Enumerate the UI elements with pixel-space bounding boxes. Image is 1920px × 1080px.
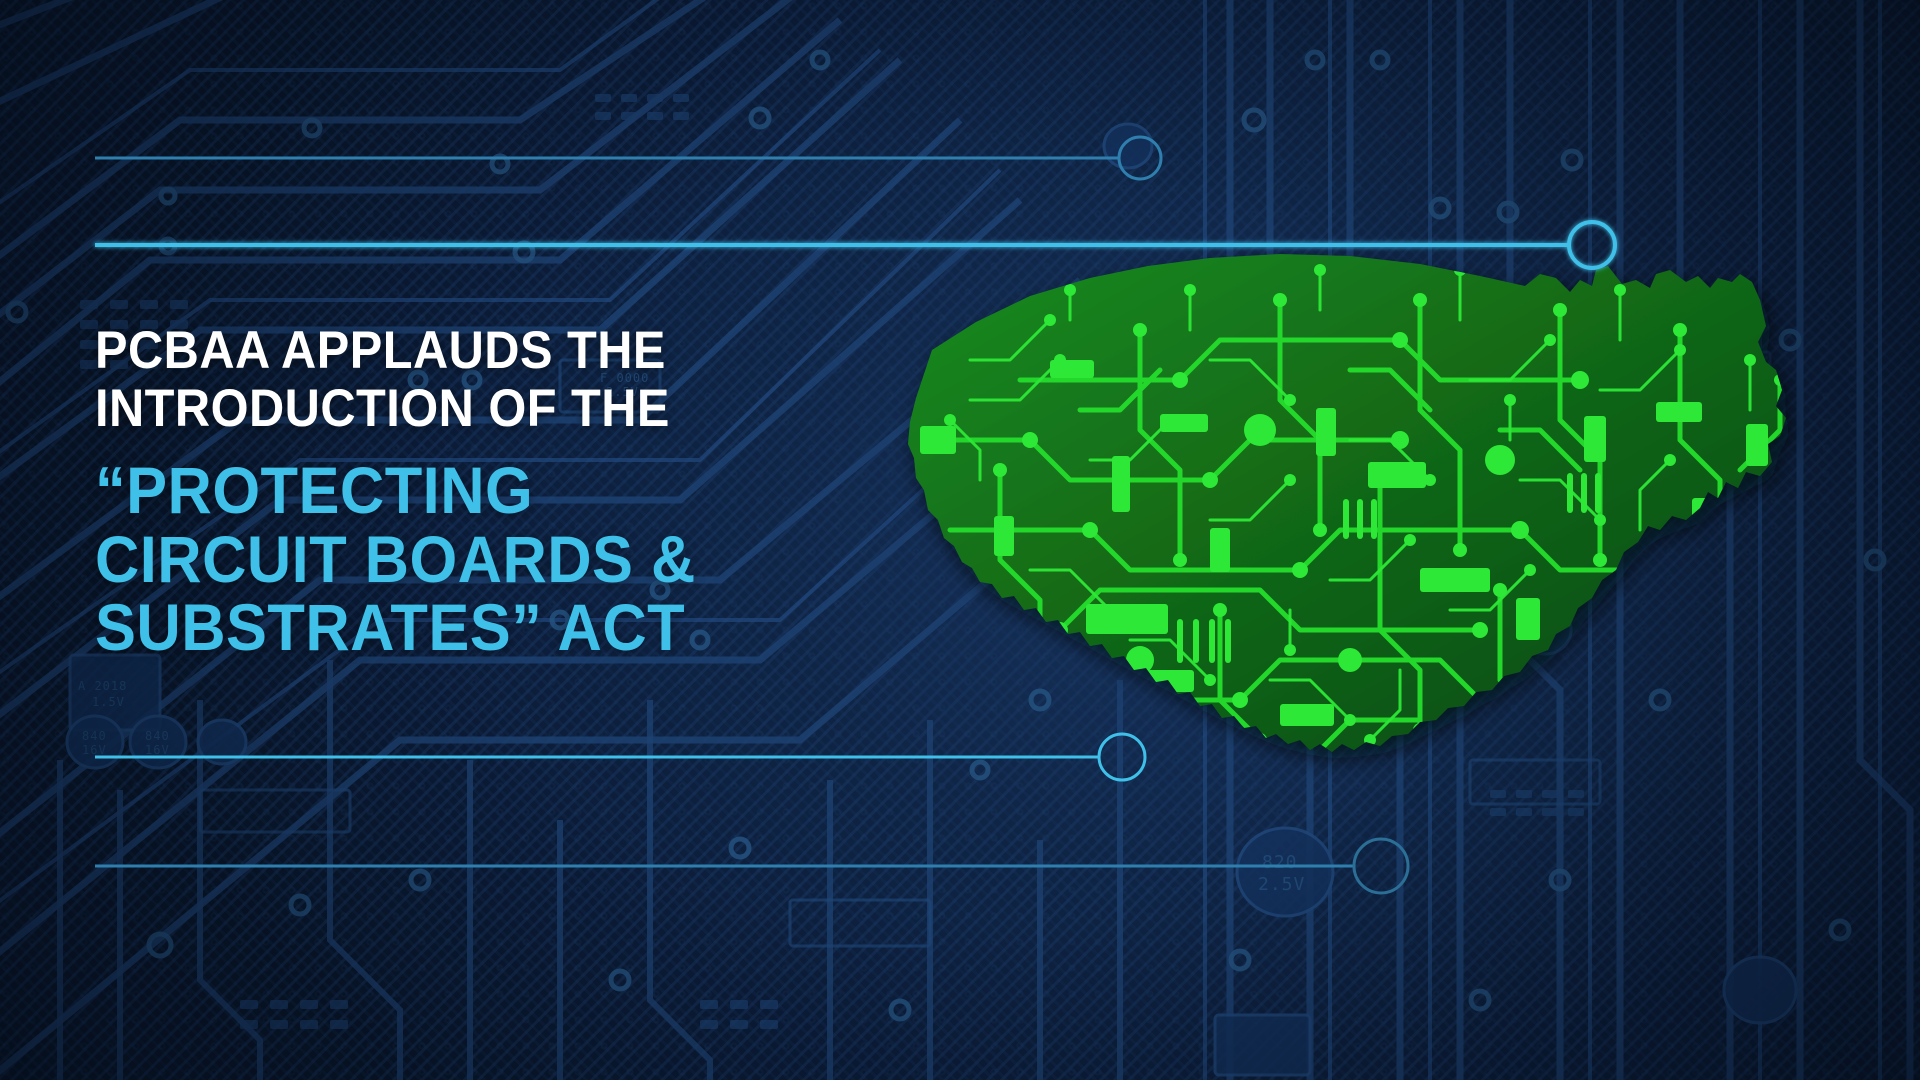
headline-blue: “PROTECTING CIRCUIT BOARDS & SUBSTRATES”… [95,456,913,662]
connector-line-2 [95,222,1615,268]
connector-line-3 [95,734,1145,780]
headline-line-3: “PROTECTING [95,456,913,525]
poster-canvas: F 0000 2.5V F 0000 2.5V A 2018 1.5V 840 … [0,0,1920,1080]
headline-line-2: INTRODUCTION OF THE [95,382,905,436]
headline-white: PCBAA APPLAUDS THE INTRODUCTION OF THE [95,324,905,436]
connector-line-4 [95,839,1408,893]
headline-block: PCBAA APPLAUDS THE INTRODUCTION OF THE “… [95,324,975,662]
connector-line-1 [95,137,1161,179]
headline-line-5: SUBSTRATES” ACT [95,593,913,662]
headline-line-4: CIRCUIT BOARDS & [95,525,913,594]
headline-line-1: PCBAA APPLAUDS THE [95,324,905,378]
